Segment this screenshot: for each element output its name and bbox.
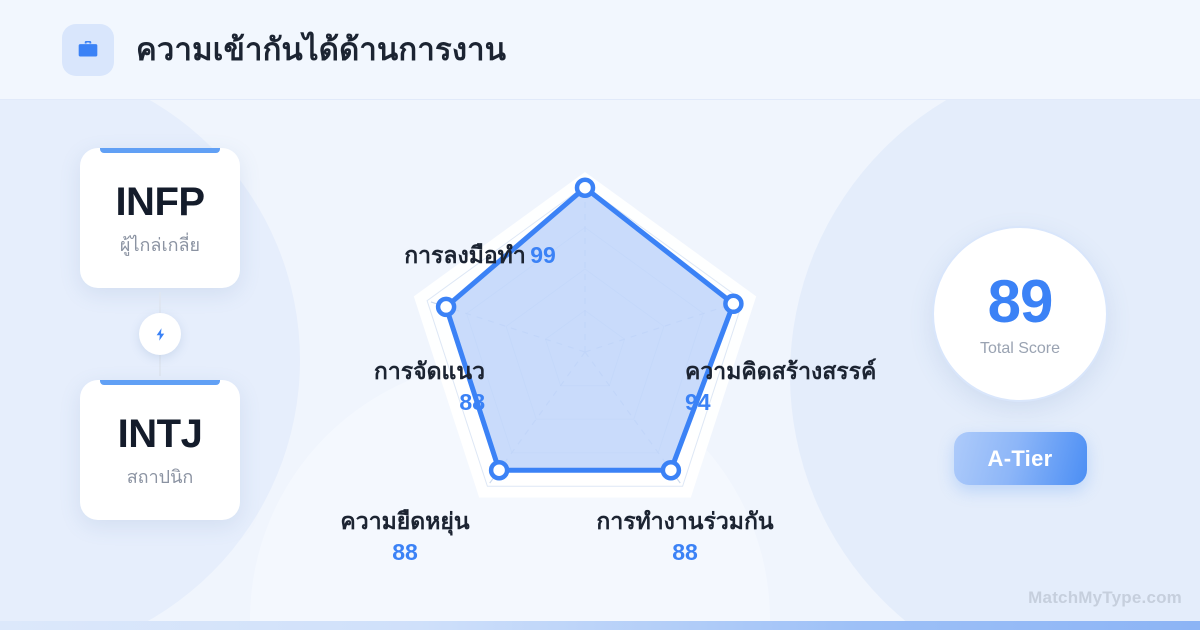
page-title: ความเข้ากันได้ด้านการงาน	[136, 34, 506, 65]
radar-label-flexibility-text: ความยืดหยุ่น	[340, 508, 469, 534]
type-code-second: INTJ	[118, 414, 203, 454]
radar-data-point	[491, 462, 507, 478]
radar-label-action-text: การลงมือทำ	[404, 242, 526, 268]
radar-label-collaboration: การทำงานร่วมกัน 88	[545, 508, 825, 566]
radar-label-alignment: การจัดแนว 88	[225, 358, 485, 416]
radar-data-point	[438, 299, 454, 315]
radar-label-collaboration-value: 88	[545, 539, 825, 565]
score-block: 89 Total Score A-Tier	[905, 228, 1135, 485]
header-bar: ความเข้ากันได้ด้านการงาน	[0, 0, 1200, 100]
total-score-circle: 89 Total Score	[934, 228, 1106, 400]
radar-label-action: การลงมือทำ 99	[280, 242, 680, 268]
type-name-second: สถาปนิก	[127, 468, 194, 486]
lightning-bolt-icon	[139, 313, 181, 355]
radar-chart: การลงมือทำ 99 ความคิดสร้างสรรค์ 94 การจั…	[300, 110, 880, 610]
radar-label-action-value: 99	[530, 242, 556, 268]
total-score-label: Total Score	[980, 341, 1060, 357]
tier-badge: A-Tier	[954, 432, 1087, 485]
type-pair: INFP ผู้ไกล่เกลี่ย INTJ สถาปนิก	[80, 148, 240, 520]
radar-label-flexibility: ความยืดหยุ่น 88	[265, 508, 545, 566]
compatibility-card: ความเข้ากันได้ด้านการงาน INFP ผู้ไกล่เกล…	[0, 0, 1200, 630]
total-score-value: 89	[988, 272, 1053, 332]
radar-data-point	[577, 180, 593, 196]
type-code-first: INFP	[115, 182, 204, 222]
radar-data-point	[725, 296, 741, 312]
radar-label-alignment-value: 88	[225, 389, 485, 415]
radar-label-collaboration-text: การทำงานร่วมกัน	[596, 508, 773, 534]
card-accent-bar	[100, 380, 220, 385]
briefcase-icon	[62, 24, 114, 76]
radar-label-creativity-text: ความคิดสร้างสรรค์	[685, 358, 876, 384]
type-card-second[interactable]: INTJ สถาปนิก	[80, 380, 240, 520]
watermark: MatchMyType.com	[1028, 588, 1182, 608]
card-accent-bar	[100, 148, 220, 153]
type-connector	[80, 288, 240, 380]
radar-label-alignment-text: การจัดแนว	[374, 358, 485, 384]
bottom-accent-strip	[0, 621, 1200, 630]
type-card-first[interactable]: INFP ผู้ไกล่เกลี่ย	[80, 148, 240, 288]
radar-data-point	[663, 462, 679, 478]
radar-label-flexibility-value: 88	[265, 539, 545, 565]
type-name-first: ผู้ไกล่เกลี่ย	[120, 236, 200, 254]
